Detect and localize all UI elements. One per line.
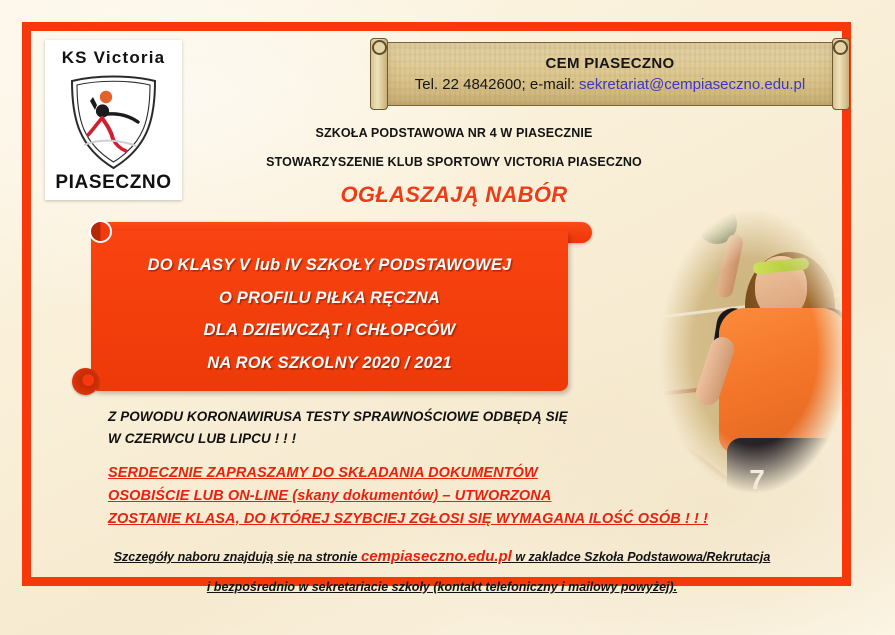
invitation-line: SERDECZNIE ZAPRASZAMY DO SKŁADANIA DOKUM… xyxy=(108,462,788,485)
shield-handball-player-icon xyxy=(66,73,161,171)
contact-email-link[interactable]: sekretariat@cempiaseczno.edu.pl xyxy=(579,76,805,93)
invitation-line: ZOSTANIE KLASA, DO KTÓREJ SZYBCIEJ ZGŁOS… xyxy=(108,508,788,531)
poster-canvas: 7 KS Victoria PIASECZNO CEM PIASECZNO Te… xyxy=(0,0,895,635)
covid-note-line: Z POWODU KORONAWIRUSA TESTY SPRAWNOŚCIOW… xyxy=(108,406,708,428)
recruitment-red-banner: DO KLASY V lub IV SZKOŁY PODSTAWOWEJ O P… xyxy=(62,218,602,396)
scroll-curl-right-icon xyxy=(833,40,848,55)
covid-note: Z POWODU KORONAWIRUSA TESTY SPRAWNOŚCIOW… xyxy=(108,406,708,450)
red-banner-line: DO KLASY V lub IV SZKOŁY PODSTAWOWEJ xyxy=(148,257,512,274)
heading-school-name: SZKOŁA PODSTAWOWA NR 4 W PIASECZNIE xyxy=(244,126,664,140)
footer-block: Szczegóły naboru znajdują się na stronie… xyxy=(36,542,848,602)
scroll-paper: CEM PIASECZNO Tel. 22 4842600; e-mail: s… xyxy=(384,42,836,106)
red-banner-line: DLA DZIEWCZĄT I CHŁOPCÓW xyxy=(204,322,456,339)
footer-text-after: w zakladce Szkoła Podstawowa/Rekrutacja xyxy=(512,550,770,564)
footer-website-link[interactable]: cempiaseczno.edu.pl xyxy=(361,548,512,565)
club-logo: KS Victoria PIASECZNO xyxy=(45,40,182,200)
red-banner-line: O PROFILU PIŁKA RĘCZNA xyxy=(219,290,440,307)
club-logo-bottom-text: PIASECZNO xyxy=(45,172,182,194)
red-banner-curl-bottom-left-icon xyxy=(72,368,99,395)
contact-scroll-banner: CEM PIASECZNO Tel. 22 4842600; e-mail: s… xyxy=(370,38,850,110)
contact-title: CEM PIASECZNO xyxy=(546,55,675,72)
covid-note-line: W CZERWCU LUB LIPCU ! ! ! xyxy=(108,428,708,450)
contact-details: Tel. 22 4842600; e-mail: sekretariat@cem… xyxy=(415,76,805,93)
contact-phone-label: Tel. 22 4842600; e-mail: xyxy=(415,76,579,93)
red-banner-line: NA ROK SZKOLNY 2020 / 2021 xyxy=(207,355,452,372)
heading-club-name: STOWARZYSZENIE KLUB SPORTOWY VICTORIA PI… xyxy=(244,155,664,169)
footer-text-before: Szczegóły naboru znajdują się na stronie xyxy=(114,550,361,564)
player-sock-left xyxy=(731,610,765,635)
scroll-curl-left-icon xyxy=(372,40,387,55)
footer-line-2: i bezpośrednio w sekretariacie szkoły (k… xyxy=(36,572,848,602)
footer-line-1: Szczegóły naboru znajdują się na stronie… xyxy=(36,542,848,572)
player-sock-right xyxy=(793,604,827,635)
red-banner-body: DO KLASY V lub IV SZKOŁY PODSTAWOWEJ O P… xyxy=(91,231,568,391)
invitation-block: SERDECZNIE ZAPRASZAMY DO SKŁADANIA DOKUM… xyxy=(108,462,788,531)
red-banner-curl-top-left-icon xyxy=(89,220,112,243)
heading-announcement: OGŁASZAJĄ NABÓR xyxy=(244,182,664,208)
club-logo-top-text: KS Victoria xyxy=(45,48,182,68)
invitation-line: OSOBIŚCIE LUB ON-LINE (skany dokumentów)… xyxy=(108,485,788,508)
